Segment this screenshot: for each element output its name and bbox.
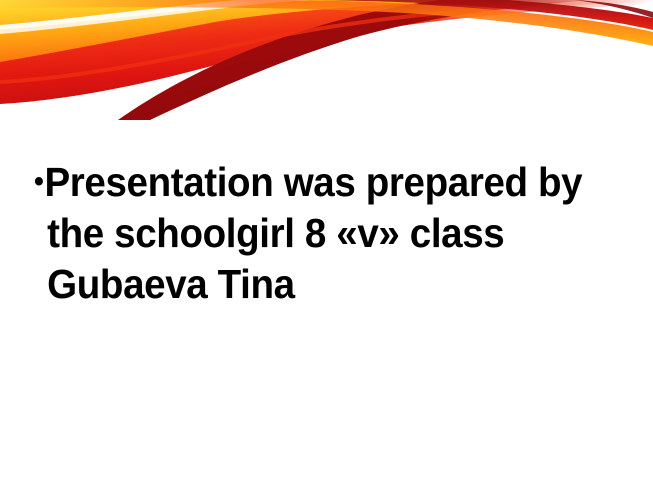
bullet-line-3: Gubaeva Tina (34, 259, 579, 310)
orange-wave-ribbon (0, 0, 653, 120)
bullet-line-1: •Presentation was prepared by (34, 156, 579, 208)
ribbon-deep-red-band (118, 0, 653, 120)
presentation-slide: •Presentation was prepared by the school… (0, 0, 653, 490)
bullet-dot-icon: • (34, 165, 44, 198)
ribbon-right-accent (575, 0, 653, 18)
ribbon-lower-band (0, 0, 653, 104)
ribbon-white-highlight (0, 0, 600, 34)
bullet-line-1-text: Presentation was prepared by (44, 159, 582, 205)
ribbon-upper-band (0, 0, 653, 62)
bullet-line-2: the schoolgirl 8 «v» class (34, 208, 579, 259)
slide-body-text: •Presentation was prepared by the school… (34, 156, 614, 310)
ribbon-right-tail-red (0, 0, 653, 30)
ribbon-accent-line (0, 0, 653, 84)
ribbon-right-tail-warm (0, 0, 653, 46)
